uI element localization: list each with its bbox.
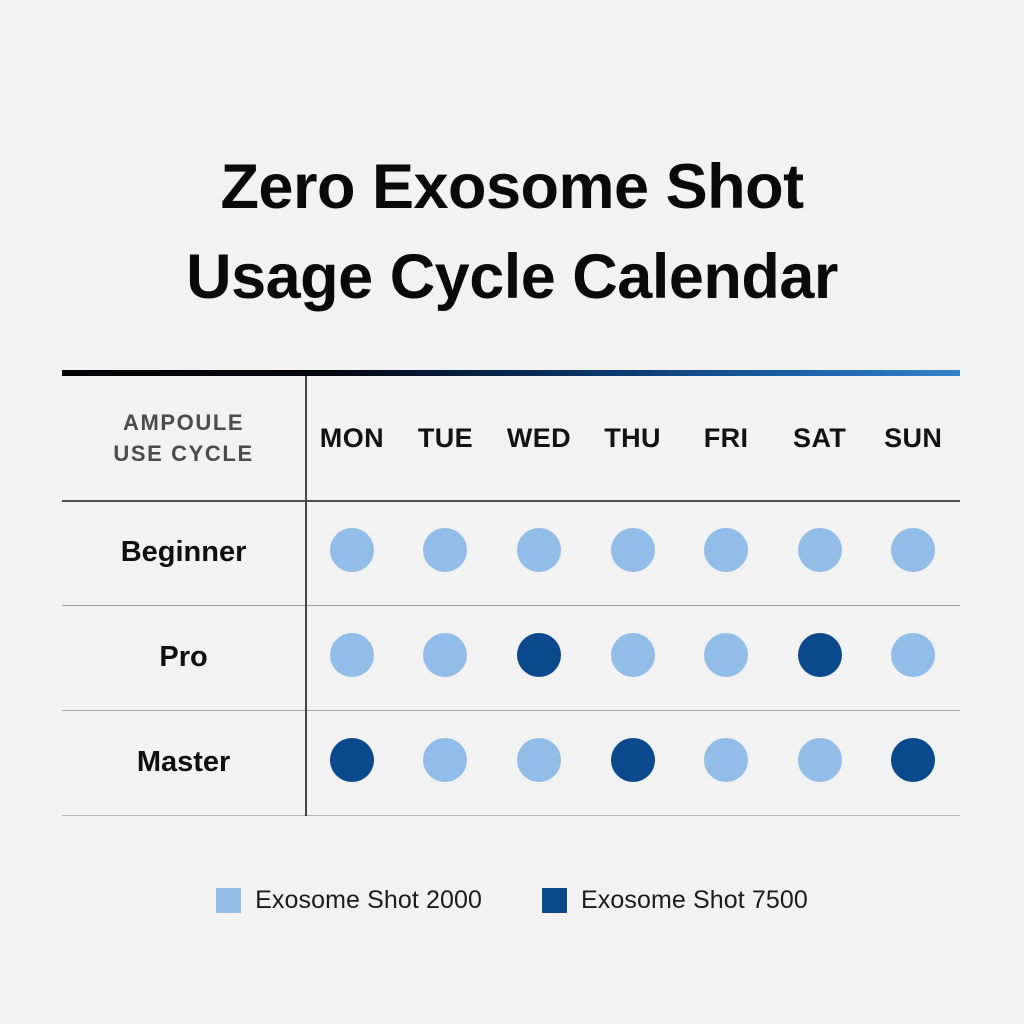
cell-pro-fri [679,605,773,710]
table-row: Beginner [62,500,960,605]
usage-dot [423,633,467,677]
cell-pro-wed [492,605,586,710]
usage-dot [517,633,561,677]
table-row: Master [62,710,960,815]
cell-pro-sun [866,605,960,710]
table-bottom-rule [62,815,960,816]
usage-cycle-calendar-page: Zero Exosome Shot Usage Cycle Calendar A… [0,0,1024,1024]
page-title-line-1: Zero Exosome Shot [0,142,1024,232]
page-title-line-2: Usage Cycle Calendar [0,232,1024,322]
cell-master-fri [679,710,773,815]
calendar-table-wrapper: AMPOULE USE CYCLE MON TUE WED THU FRI SA… [62,370,960,815]
row-separator-rule-1 [62,605,960,606]
usage-dot [611,738,655,782]
cell-beginner-wed [492,500,586,605]
usage-dot [330,633,374,677]
cell-beginner-sun [866,500,960,605]
corner-header-line-1: AMPOULE [62,407,305,438]
usage-dot [611,528,655,572]
usage-dot [330,528,374,572]
usage-dot [611,633,655,677]
day-header-thu: THU [586,376,680,500]
cell-beginner-tue [399,500,493,605]
cell-master-thu [586,710,680,815]
cell-pro-mon [305,605,399,710]
cell-master-wed [492,710,586,815]
cell-master-sat [773,710,867,815]
corner-header-line-2: USE CYCLE [62,438,305,469]
cell-pro-tue [399,605,493,710]
legend-swatch-light-icon [216,888,241,913]
cell-master-mon [305,710,399,815]
usage-dot [891,738,935,782]
usage-dot [798,633,842,677]
cell-master-sun [866,710,960,815]
header-separator-rule [62,500,960,502]
legend: Exosome Shot 2000 Exosome Shot 7500 [0,886,1024,915]
legend-item-7500: Exosome Shot 7500 [542,886,808,915]
cell-beginner-fri [679,500,773,605]
legend-label-2000: Exosome Shot 2000 [255,886,482,915]
row-label-master: Master [62,710,305,815]
day-header-fri: FRI [679,376,773,500]
day-header-sun: SUN [866,376,960,500]
label-column-divider [305,376,307,816]
cell-beginner-sat [773,500,867,605]
row-label-pro: Pro [62,605,305,710]
usage-dot [423,738,467,782]
day-header-mon: MON [305,376,399,500]
usage-dot [517,528,561,572]
usage-dot [330,738,374,782]
usage-dot [704,528,748,572]
usage-dot [891,633,935,677]
cell-pro-thu [586,605,680,710]
legend-swatch-dark-icon [542,888,567,913]
usage-dot [798,528,842,572]
cell-pro-sat [773,605,867,710]
usage-dot [704,738,748,782]
usage-dot [423,528,467,572]
usage-dot [891,528,935,572]
page-title: Zero Exosome Shot Usage Cycle Calendar [0,142,1024,322]
legend-item-2000: Exosome Shot 2000 [216,886,482,915]
usage-cycle-table: AMPOULE USE CYCLE MON TUE WED THU FRI SA… [62,376,960,815]
legend-label-7500: Exosome Shot 7500 [581,886,808,915]
cell-beginner-thu [586,500,680,605]
table-header-row: AMPOULE USE CYCLE MON TUE WED THU FRI SA… [62,376,960,500]
usage-dot [798,738,842,782]
table-body: Beginner Pro [62,500,960,815]
day-header-wed: WED [492,376,586,500]
cell-beginner-mon [305,500,399,605]
row-label-beginner: Beginner [62,500,305,605]
cell-master-tue [399,710,493,815]
usage-dot [704,633,748,677]
corner-header-cell: AMPOULE USE CYCLE [62,376,305,500]
table-row: Pro [62,605,960,710]
row-separator-rule-2 [62,710,960,711]
usage-dot [517,738,561,782]
day-header-sat: SAT [773,376,867,500]
day-header-tue: TUE [399,376,493,500]
